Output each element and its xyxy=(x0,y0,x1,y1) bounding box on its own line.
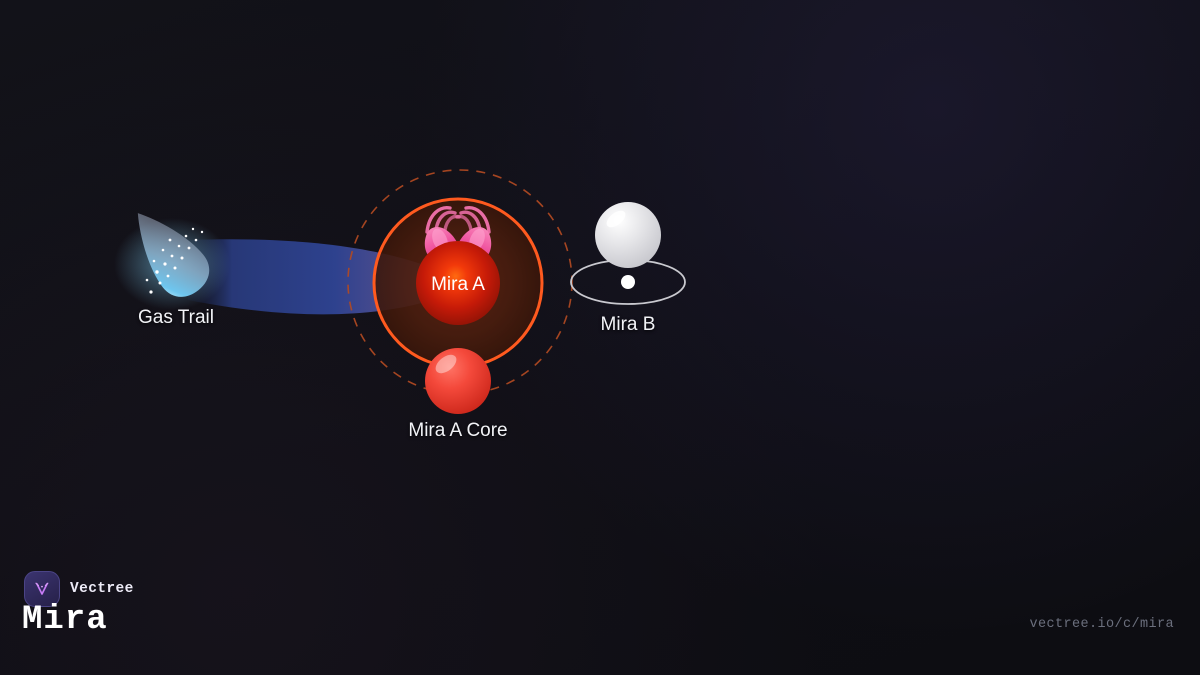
brand-name: Vectree xyxy=(70,581,134,597)
mira-a-core-sphere xyxy=(425,348,491,414)
gas-trail-label: Gas Trail xyxy=(138,307,214,329)
mira-a-label: Mira A xyxy=(431,274,485,296)
mira-a-core-label: Mira A Core xyxy=(408,420,507,442)
page-title: Mira xyxy=(22,601,108,639)
mira-b-sphere xyxy=(595,202,661,268)
mira-a-core-group[interactable] xyxy=(425,348,491,414)
mira-b-label: Mira B xyxy=(601,314,656,336)
mira-b-group[interactable] xyxy=(571,202,685,304)
page-url: vectree.io/c/mira xyxy=(1029,617,1174,632)
footer: Vectree Mira vectree.io/c/mira xyxy=(0,565,1200,675)
mira-b-center-dot xyxy=(621,275,635,289)
